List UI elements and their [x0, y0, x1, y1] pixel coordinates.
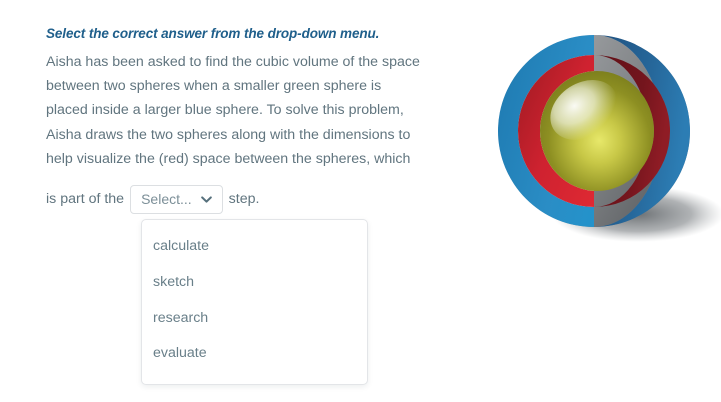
select-option-research[interactable]: research: [142, 301, 367, 337]
chevron-down-icon: [200, 193, 213, 206]
select-option-evaluate[interactable]: evaluate: [142, 336, 367, 372]
sphere-figure: [466, 18, 721, 253]
inline-trail-text: step.: [229, 187, 260, 211]
question-line-4: Aisha draws the two spheres along with t…: [46, 123, 466, 147]
question-line-2: between two spheres when a smaller green…: [46, 74, 466, 98]
question-line-3: placed inside a larger blue sphere. To s…: [46, 98, 466, 122]
answer-select-menu[interactable]: calculate sketch research evaluate: [141, 219, 368, 385]
select-option-calculate[interactable]: calculate: [142, 229, 367, 265]
question-body: Aisha has been asked to find the cubic v…: [46, 50, 466, 172]
answer-select-value: Select...: [141, 187, 192, 211]
question-line-1: Aisha has been asked to find the cubic v…: [46, 50, 466, 74]
inline-lead-text: is part of the: [46, 187, 124, 211]
answer-select-button[interactable]: Select...: [130, 185, 223, 214]
prompt-heading: Select the correct answer from the drop-…: [46, 24, 466, 44]
select-option-sketch[interactable]: sketch: [142, 265, 367, 301]
inline-select-row: is part of the Select... step.: [46, 185, 259, 214]
question-pane: Select the correct answer from the drop-…: [46, 24, 466, 172]
cutaway-spheres-svg: [466, 18, 721, 253]
question-line-5: help visualize the (red) space between t…: [46, 147, 466, 171]
